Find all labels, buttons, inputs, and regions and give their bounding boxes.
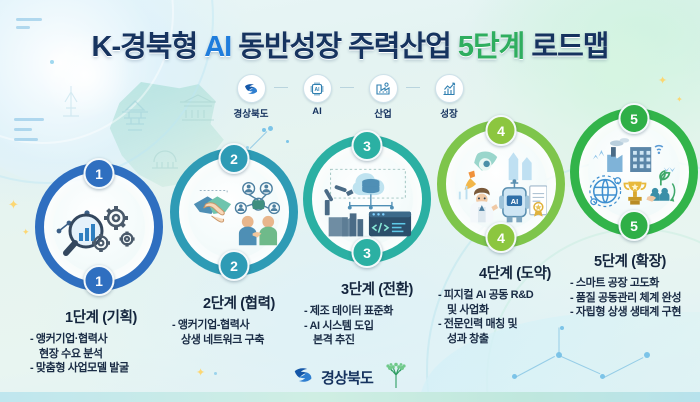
chip-connector bbox=[274, 87, 288, 88]
stage-number: 3 bbox=[363, 245, 371, 261]
stage-ring-5[interactable]: 5 5 bbox=[570, 108, 698, 236]
keyword-chip-row: 경상북도 AI AI 산업 성장 bbox=[0, 74, 700, 120]
smart-manufacturing-icon bbox=[321, 160, 413, 238]
stage-ring-1[interactable]: 1 1 bbox=[35, 163, 163, 291]
stage-item: - 스마트 공장 고도화 bbox=[570, 276, 700, 291]
stage-icon-area-3 bbox=[321, 153, 413, 245]
svg-text:AI: AI bbox=[511, 197, 519, 206]
smart-ecosystem-icon bbox=[588, 132, 680, 212]
stage-badge-4-bottom: 4 bbox=[486, 222, 517, 253]
stage-items-5: - 스마트 공장 고도화 - 품질 공동관리 체계 완성 - 자립형 상생 생태… bbox=[560, 276, 700, 320]
growth-chart-icon bbox=[435, 74, 464, 103]
stage-badge-5-top: 5 bbox=[619, 103, 650, 134]
gyeongbuk-logo-icon bbox=[292, 364, 314, 391]
title-part-five-stage: 5단계 bbox=[458, 31, 525, 63]
chip-industry: 산업 bbox=[360, 74, 406, 120]
stage-item: - 품질 공동관리 체계 완성 bbox=[570, 291, 700, 306]
stage-badge-4-top: 4 bbox=[486, 115, 517, 146]
gyeongbuk-logo-icon bbox=[237, 74, 266, 103]
stage-number: 2 bbox=[230, 151, 238, 167]
chip-connector bbox=[340, 87, 354, 88]
infographic-canvas: ✦ ✦ ✦ ✦ ✦ K-경북형 AI 동반성장 주력산업 5단계 로드맵 경상북… bbox=[0, 0, 700, 402]
stage-item: 현장 수요 분석 bbox=[30, 347, 186, 362]
stage-number: 1 bbox=[95, 273, 103, 289]
stage-number: 3 bbox=[363, 138, 371, 154]
factory-icon bbox=[369, 74, 398, 103]
footer-org-name: 경상북도 bbox=[321, 367, 373, 388]
stage-title-5: 5단계 (확장) bbox=[560, 250, 700, 271]
chip-label: 산업 bbox=[360, 106, 406, 120]
stage-caption-5: 5단계 (확장) - 스마트 공장 고도화 - 품질 공동관리 체계 완성 - … bbox=[560, 250, 700, 320]
tree-icon bbox=[384, 362, 408, 393]
stage-item: 성과 창출 bbox=[438, 332, 600, 347]
stage-ring-3[interactable]: 3 3 bbox=[303, 135, 431, 263]
title-part-3: 동반성장 주력산업 bbox=[231, 31, 458, 63]
stage-badge-1-top: 1 bbox=[84, 158, 115, 189]
stage-icon-area-1 bbox=[53, 181, 145, 273]
chip-growth: 성장 bbox=[426, 74, 472, 120]
stage-number: 2 bbox=[230, 258, 238, 274]
title-part-1: K-경북형 bbox=[92, 31, 205, 63]
stage-ring-4[interactable]: AI 4 4 bbox=[437, 120, 565, 248]
stage-badge-2-top: 2 bbox=[219, 143, 250, 174]
chip-label: AI bbox=[294, 106, 340, 117]
stage-badge-2-bottom: 2 bbox=[219, 250, 250, 281]
ai-chip-icon: AI bbox=[303, 74, 332, 103]
stage-icon-area-2 bbox=[188, 166, 280, 258]
chip-gyeongsangbukdo: 경상북도 bbox=[228, 74, 274, 120]
stage-number: 1 bbox=[95, 166, 103, 182]
stage-number: 5 bbox=[630, 111, 638, 127]
rd-commercialization-icon: AI bbox=[455, 144, 547, 224]
footer-logo: 경상북도 bbox=[0, 362, 700, 393]
stage-badge-3-top: 3 bbox=[352, 130, 383, 161]
chip-label: 성장 bbox=[426, 106, 472, 120]
stage-icon-area-4: AI bbox=[455, 138, 547, 230]
page-title: K-경북형 AI 동반성장 주력산업 5단계 로드맵 bbox=[0, 23, 700, 65]
stage-badge-1-bottom: 1 bbox=[84, 265, 115, 296]
title-part-ai: AI bbox=[204, 31, 231, 63]
stage-number: 4 bbox=[497, 230, 505, 246]
svg-text:AI: AI bbox=[315, 87, 321, 93]
stage-badge-3-bottom: 3 bbox=[352, 237, 383, 268]
bottom-band bbox=[0, 392, 700, 402]
stage-badge-5-bottom: 5 bbox=[619, 210, 650, 241]
handshake-network-icon bbox=[188, 174, 280, 250]
chip-ai: AI AI bbox=[294, 74, 340, 117]
chip-label: 경상북도 bbox=[228, 106, 274, 120]
stage-icon-area-5 bbox=[588, 126, 680, 218]
stage-ring-2[interactable]: 2 2 bbox=[170, 148, 298, 276]
dome-landmark-icon bbox=[148, 140, 182, 177]
magnifier-bar-chart-icon bbox=[53, 191, 145, 263]
stage-number: 5 bbox=[630, 218, 638, 234]
stage-item: - 자립형 상생 생태계 구현 bbox=[570, 305, 700, 320]
stage-number: 4 bbox=[497, 123, 505, 139]
title-part-5: 로드맵 bbox=[524, 31, 608, 63]
chip-connector bbox=[406, 87, 420, 88]
